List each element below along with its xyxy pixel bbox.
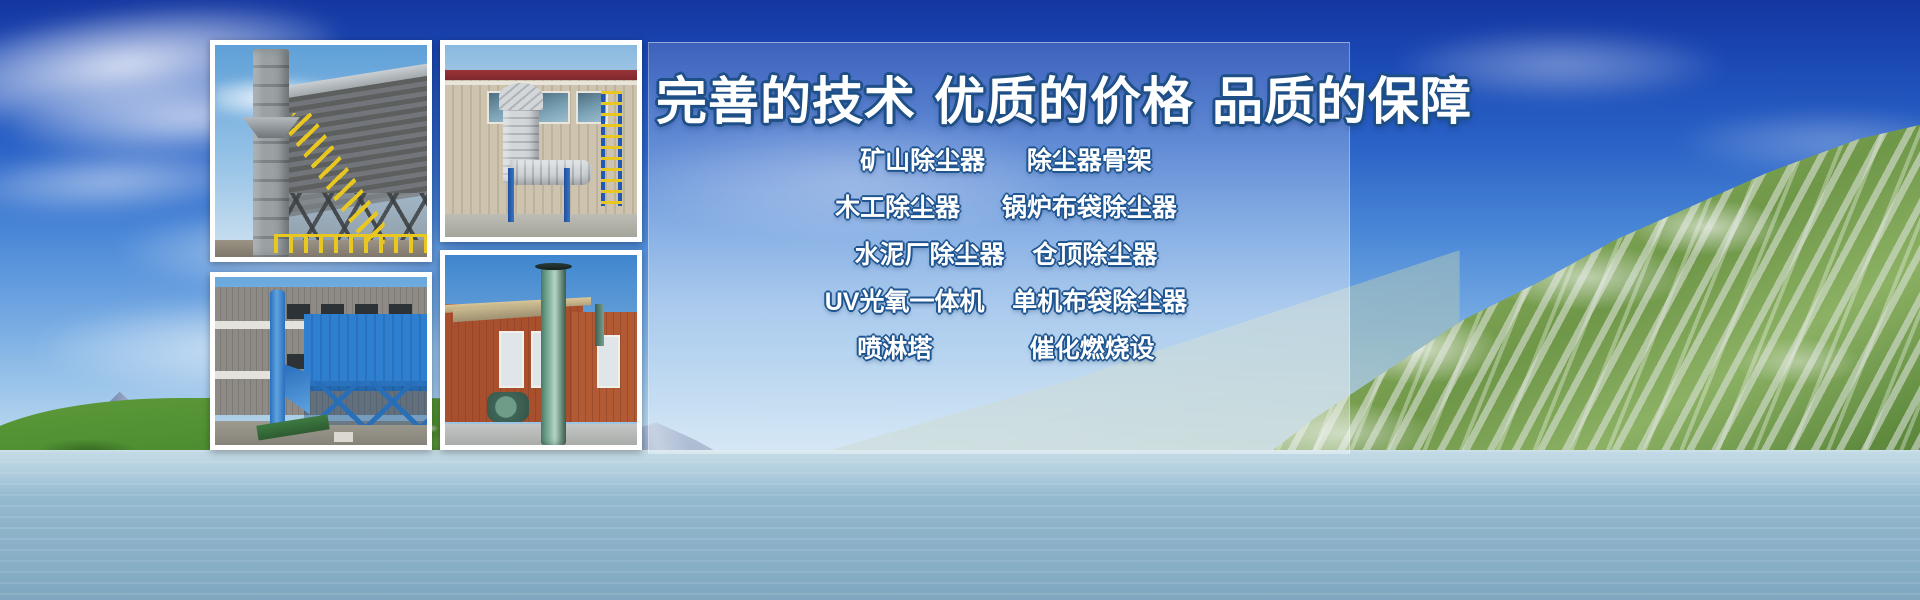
photo-galvanized-duct[interactable] — [440, 40, 642, 242]
headline-part-3: 品质的保障 — [1212, 73, 1472, 130]
promo-banner: 完善的技术优质的价格品质的保障 矿山除尘器 除尘器骨架 木工除尘器 锅炉布袋除尘… — [0, 0, 1920, 600]
product-line: 水泥厂除尘器 仓顶除尘器 — [656, 232, 1356, 279]
product-list: 矿山除尘器 除尘器骨架 木工除尘器 锅炉布袋除尘器 水泥厂除尘器 仓顶除尘器 U… — [656, 138, 1356, 373]
photo-blue-bag-filter[interactable] — [210, 272, 432, 450]
banner-headline: 完善的技术优质的价格品质的保障 — [656, 60, 1356, 134]
lake-water — [0, 450, 1920, 600]
product-line: 喷淋塔 催化燃烧设 — [656, 326, 1356, 373]
product-line: UV光氧一体机 单机布袋除尘器 — [656, 279, 1356, 326]
product-line: 矿山除尘器 除尘器骨架 — [656, 138, 1356, 185]
water-shimmer — [0, 450, 1920, 600]
headline-part-1: 完善的技术 — [656, 73, 916, 130]
product-line: 木工除尘器 锅炉布袋除尘器 — [656, 185, 1356, 232]
headline-part-2: 优质的价格 — [934, 73, 1194, 130]
photo-green-stack-scrubber[interactable] — [440, 250, 642, 450]
photo-mine-dust-collector[interactable] — [210, 40, 432, 262]
